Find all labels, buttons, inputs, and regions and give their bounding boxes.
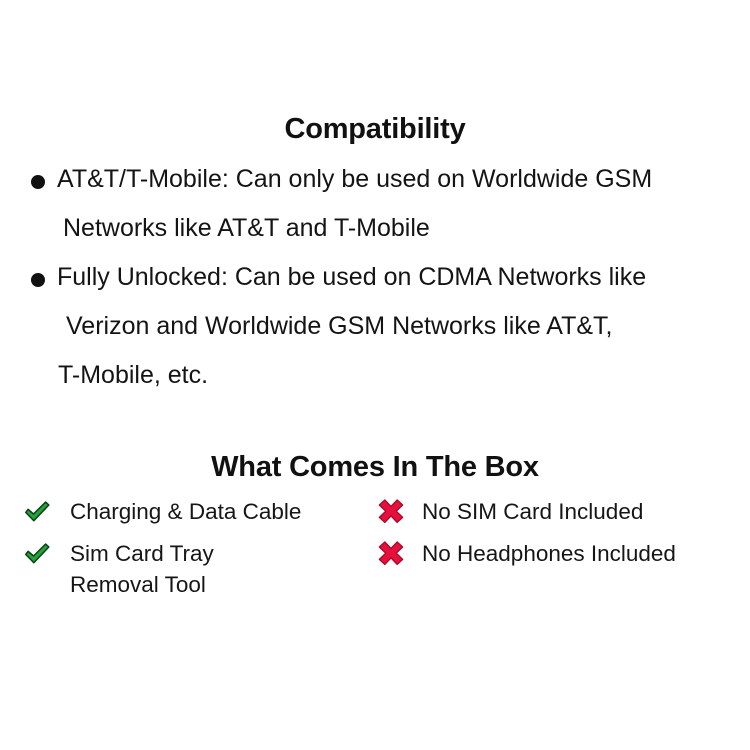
list-item-label: Networks like AT&T and T-Mobile bbox=[63, 204, 430, 253]
list-item-continuation: T-Mobile, etc. bbox=[0, 351, 750, 400]
list-item-continuation: Verizon and Worldwide GSM Networks like … bbox=[0, 302, 750, 351]
included-items-column: Charging & Data Cable Sim Card Tray Remo… bbox=[22, 492, 372, 601]
list-item-continuation: Networks like AT&T and T-Mobile bbox=[0, 204, 750, 253]
list-item-label: AT&T/T-Mobile: Can only be used on World… bbox=[57, 155, 652, 204]
list-item: Charging & Data Cable bbox=[22, 492, 372, 533]
compatibility-heading: Compatibility bbox=[0, 113, 750, 146]
red-x-icon bbox=[376, 496, 406, 526]
red-x-icon bbox=[376, 538, 406, 568]
list-item-label: Charging & Data Cable bbox=[70, 492, 372, 527]
bullet-dot-icon bbox=[31, 273, 45, 287]
green-check-icon bbox=[22, 538, 52, 568]
bullet-dot-icon bbox=[31, 175, 45, 189]
list-item-label: Sim Card Tray Removal Tool bbox=[70, 534, 372, 600]
list-item-label: Verizon and Worldwide GSM Networks like … bbox=[66, 302, 613, 351]
box-contents-heading: What Comes In The Box bbox=[0, 451, 750, 484]
list-item: Fully Unlocked: Can be used on CDMA Netw… bbox=[0, 253, 750, 302]
compatibility-bullet-list: AT&T/T-Mobile: Can only be used on World… bbox=[0, 155, 750, 400]
list-item: Sim Card Tray Removal Tool bbox=[22, 534, 372, 600]
excluded-items-column: No SIM Card Included No Headphones Inclu… bbox=[376, 492, 746, 576]
list-item-label: T-Mobile, etc. bbox=[58, 351, 208, 400]
list-item: No Headphones Included bbox=[376, 534, 746, 575]
list-item-label: No SIM Card Included bbox=[422, 492, 746, 527]
list-item-label: Fully Unlocked: Can be used on CDMA Netw… bbox=[57, 253, 646, 302]
list-item-label: No Headphones Included bbox=[422, 534, 746, 569]
product-info-page: Compatibility AT&T/T-Mobile: Can only be… bbox=[0, 0, 750, 750]
green-check-icon bbox=[22, 496, 52, 526]
list-item: No SIM Card Included bbox=[376, 492, 746, 533]
list-item: AT&T/T-Mobile: Can only be used on World… bbox=[0, 155, 750, 204]
